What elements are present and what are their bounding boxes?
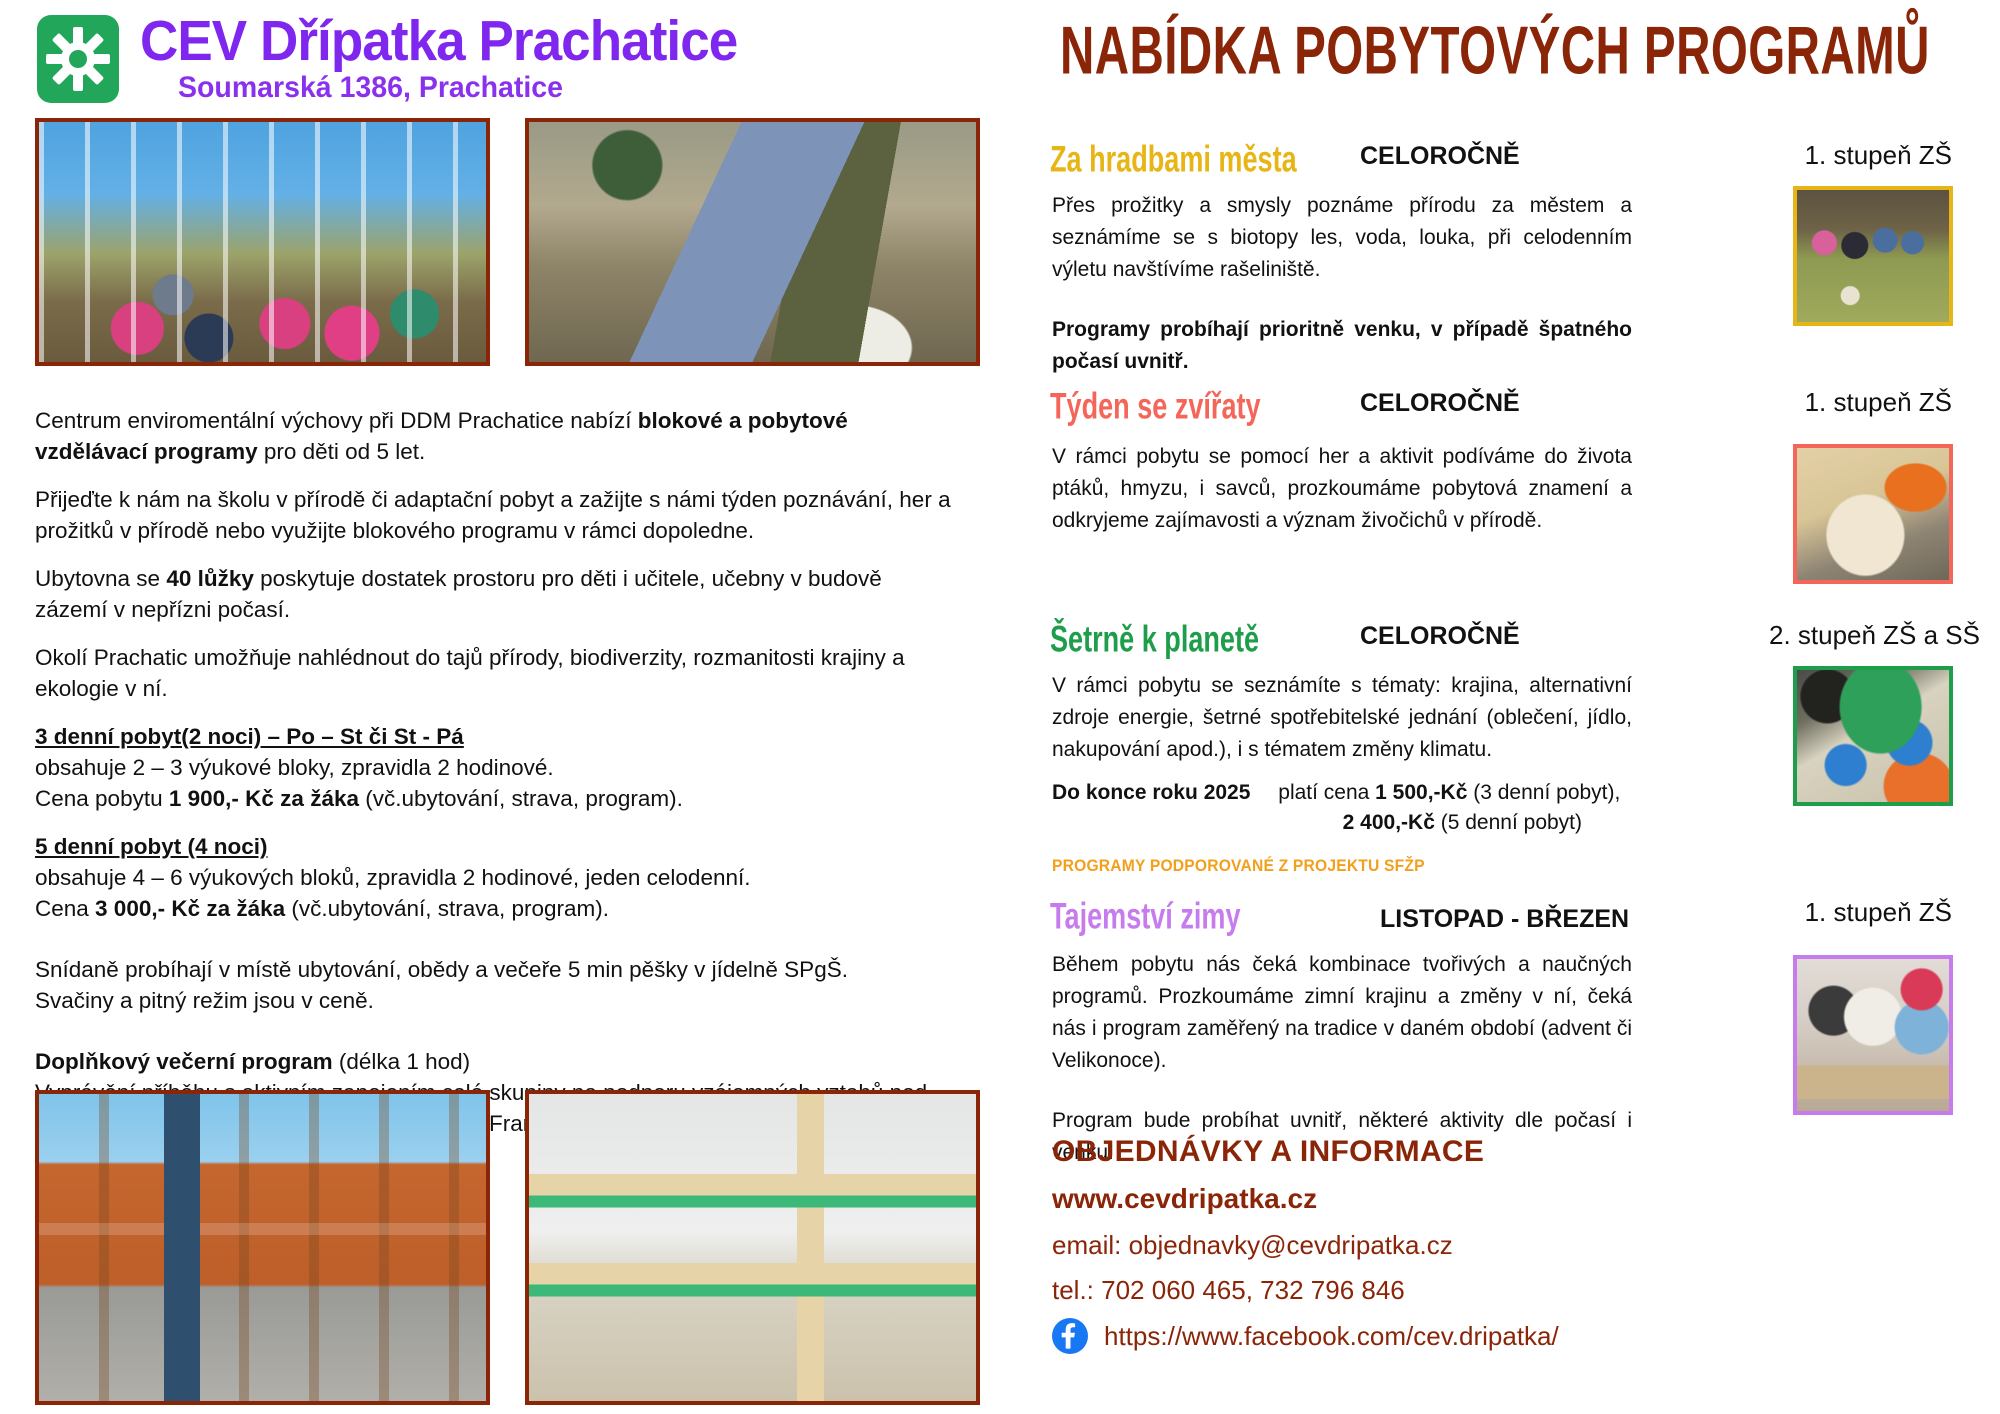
program-header: Za hradbami města CELOROČNĚ 1. stupeň ZŠ — [1030, 138, 2000, 182]
paragraph-surroundings: Okolí Prachatic umožňuje nahlédnout do t… — [35, 642, 955, 704]
price-label: Do konce roku 2025 — [1052, 781, 1250, 804]
program-header: Tajemství zimy LISTOPAD - BŘEZEN 1. stup… — [1030, 895, 2000, 939]
program-level: 1. stupeň ZŠ — [1805, 897, 1952, 928]
paragraph-intro: Centrum enviromentální výchovy při DDM P… — [35, 405, 955, 467]
poster-page: CEV Dřípatka Prachatice Soumarská 1386, … — [0, 0, 2000, 1414]
meals-line1: Snídaně probíhají v místě ubytování, obě… — [35, 954, 955, 985]
thumb-workshop-table — [1793, 666, 1953, 806]
thumb-winter-craft — [1793, 955, 1953, 1115]
program-name: Týden se zvířaty — [1050, 385, 1261, 428]
stay5-line1: obsahuje 4 – 6 výukových bloků, zpravidl… — [35, 862, 955, 893]
program-name: Tajemství zimy — [1050, 895, 1241, 938]
program-description-text: V rámci pobytu se pomocí her a aktivit p… — [1052, 441, 1632, 537]
program-term: CELOROČNĚ — [1360, 622, 1520, 651]
evening-heading: Doplňkový večerní program (délka 1 hod) — [35, 1046, 955, 1077]
paragraph-accommodation: Ubytovna se 40 lůžky poskytuje dostatek … — [35, 563, 955, 625]
program-term: LISTOPAD - BŘEZEN — [1380, 905, 1629, 934]
brand-subtitle: Soumarská 1386, Prachatice — [178, 71, 563, 105]
program-description-text: V rámci pobytu se seznámíte s tématy: kr… — [1052, 670, 1632, 766]
program-block-setrne-k-planete: Šetrně k planetě CELOROČNĚ 2. stupeň ZŠ … — [1030, 618, 2000, 662]
program-level: 1. stupeň ZŠ — [1805, 387, 1952, 418]
program-description: Přes prožitky a smysly poznáme přírodu z… — [1052, 190, 1632, 378]
stay5-line2: Cena 3 000,- Kč za žáka (vč.ubytování, s… — [35, 893, 955, 924]
program-level: 2. stupeň ZŠ a SŠ — [1769, 620, 1980, 651]
program-block-tyden-se-zviraty: Týden se zvířaty CELOROČNĚ 1. stupeň ZŠ … — [1030, 385, 2000, 429]
price-mid: platí cena — [1278, 781, 1375, 804]
contact-title: OBJEDNÁVKY A INFORMACE — [1052, 1135, 1559, 1169]
program-name: Za hradbami města — [1050, 138, 1297, 181]
price-5day: 2 400,-Kč — [1343, 811, 1435, 834]
contact-facebook-row[interactable]: https://www.facebook.com/cev.dripatka/ — [1052, 1318, 1559, 1354]
contact-block: OBJEDNÁVKY A INFORMACE www.cevdripatka.c… — [1052, 1135, 1559, 1354]
program-header: Šetrně k planetě CELOROČNĚ 2. stupeň ZŠ … — [1030, 618, 2000, 662]
program-price-row-b: 2 400,-Kč (5 denní pobyt) — [1052, 808, 1632, 838]
program-description: V rámci pobytu se pomocí her a aktivit p… — [1052, 441, 1632, 537]
program-price-row-a: Do konce roku 2025 platí cena 1 500,-Kč … — [1052, 778, 1632, 808]
program-level: 1. stupeň ZŠ — [1805, 140, 1952, 171]
stay3-line2: Cena pobytu 1 900,- Kč za žáka (vč.ubyto… — [35, 783, 955, 814]
logo-badge — [37, 15, 119, 103]
meals-line2: Svačiny a pitný režim jsou v ceně. — [35, 985, 955, 1016]
facebook-icon — [1052, 1318, 1088, 1354]
thumb-gecko-terrarium — [1793, 444, 1953, 584]
contact-facebook-url[interactable]: https://www.facebook.com/cev.dripatka/ — [1104, 1319, 1559, 1353]
program-block-za-hradbami: Za hradbami města CELOROČNĚ 1. stupeň ZŠ… — [1030, 138, 2000, 182]
thumb-meadow-activity — [1793, 186, 1953, 326]
paragraph-invite: Přijeďte k nám na školu v přírodě či ada… — [35, 484, 955, 546]
program-description-text: Během pobytu nás čeká kombinace tvořivýc… — [1052, 949, 1632, 1077]
photo-dripatka-building — [35, 1090, 490, 1405]
left-body-text: Centrum enviromentální výchovy při DDM P… — [35, 405, 955, 1156]
brand-title: CEV Dřípatka Prachatice — [140, 8, 737, 74]
program-description-text: Přes prožitky a smysly poznáme přírodu z… — [1052, 190, 1632, 286]
contact-email[interactable]: email: objednavky@cevdripatka.cz — [1052, 1228, 1559, 1262]
stay3-heading: 3 denní pobyt(2 noci) – Po – St či St - … — [35, 721, 955, 752]
photo-children-forest — [35, 118, 490, 366]
sfzp-note: PROGRAMY PODPOROVANÉ Z PROJEKTU SFŽP — [1052, 850, 1586, 882]
program-description: V rámci pobytu se seznámíte s tématy: kr… — [1052, 670, 1632, 882]
page-title: NABÍDKA POBYTOVÝCH PROGRAMŮ — [1060, 12, 1930, 90]
program-note: Programy probíhají prioritně venku, v př… — [1052, 314, 1632, 378]
price-3day: 1 500,-Kč — [1375, 781, 1467, 804]
program-header: Týden se zvířaty CELOROČNĚ 1. stupeň ZŠ — [1030, 385, 2000, 429]
program-term: CELOROČNĚ — [1360, 142, 1520, 171]
photo-pond-dipping — [525, 118, 980, 366]
right-column: NABÍDKA POBYTOVÝCH PROGRAMŮ Za hradbami … — [1030, 0, 2000, 1414]
contact-website[interactable]: www.cevdripatka.cz — [1052, 1183, 1559, 1215]
contact-phone[interactable]: tel.: 702 060 465, 732 796 846 — [1052, 1273, 1559, 1307]
stay3-line1: obsahuje 2 – 3 výukové bloky, zpravidla … — [35, 752, 955, 783]
brand-header: CEV Dřípatka Prachatice Soumarská 1386, … — [30, 8, 990, 108]
left-column: CEV Dřípatka Prachatice Soumarská 1386, … — [30, 0, 990, 1414]
photo-bunk-beds — [525, 1090, 980, 1405]
stay5-heading: 5 denní pobyt (4 noci) — [35, 831, 955, 862]
program-block-tajemstvi-zimy: Tajemství zimy LISTOPAD - BŘEZEN 1. stup… — [1030, 895, 2000, 939]
program-term: CELOROČNĚ — [1360, 389, 1520, 418]
flower-asterisk-icon — [37, 15, 119, 103]
program-name: Šetrně k planetě — [1050, 618, 1259, 661]
